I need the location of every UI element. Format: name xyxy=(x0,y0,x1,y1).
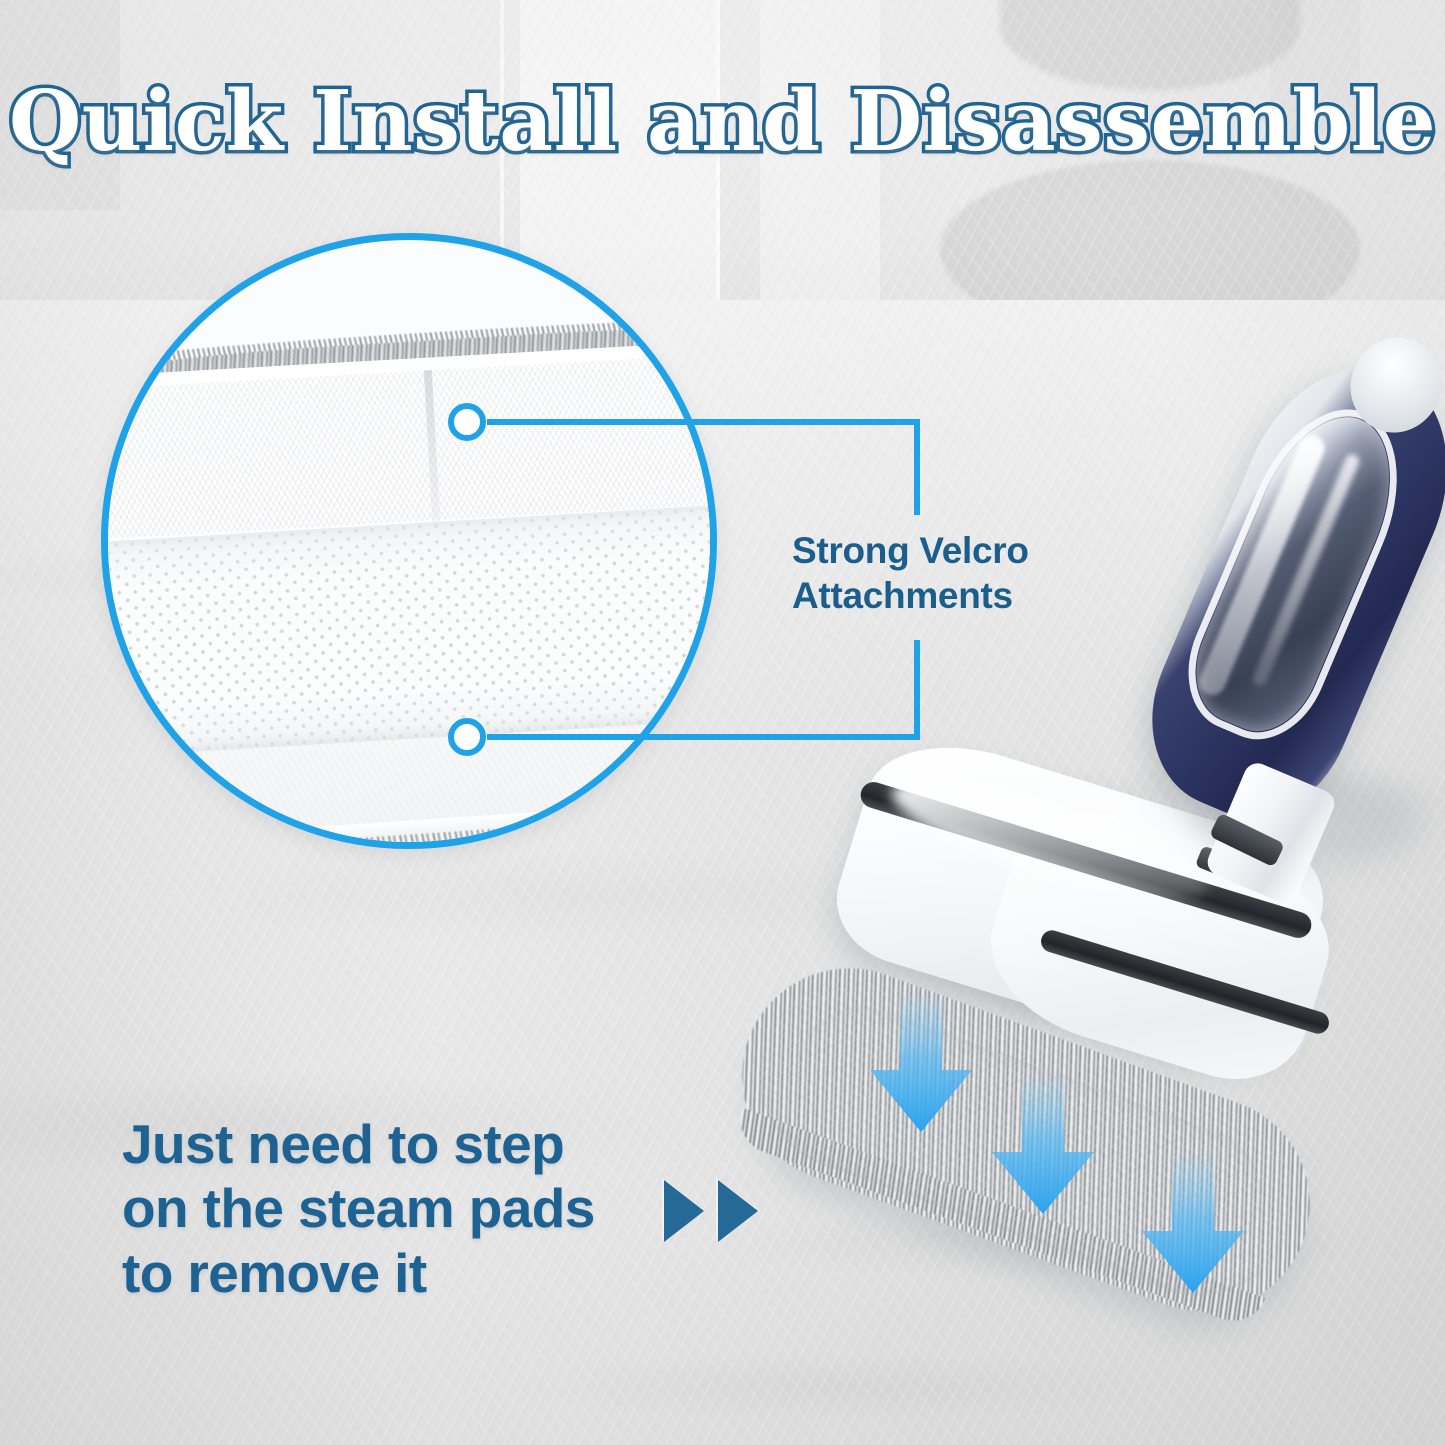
instruction-line-3: to remove it xyxy=(122,1241,682,1305)
product-feature-poster: Quick Install and Disassemble Strong Vel… xyxy=(0,0,1445,1445)
steam-mop-body xyxy=(1175,355,1445,895)
callout-label-line1: Strong Velcro xyxy=(792,528,1062,573)
callout-label: Strong Velcro Attachments xyxy=(792,528,1062,618)
chevron-right-icon-group xyxy=(664,1180,758,1242)
instruction-line-2: on the steam pads xyxy=(122,1176,682,1240)
page-title: Quick Install and Disassemble xyxy=(0,72,1445,170)
instruction-copy: Just need to step on the steam pads to r… xyxy=(122,1112,682,1305)
instruction-line-1: Just need to step xyxy=(122,1112,682,1176)
callout-label-line2: Attachments xyxy=(792,573,1062,618)
chevron-right-icon xyxy=(664,1180,704,1242)
magnifier-circle-icon xyxy=(101,233,717,849)
chevron-right-icon xyxy=(718,1180,758,1242)
